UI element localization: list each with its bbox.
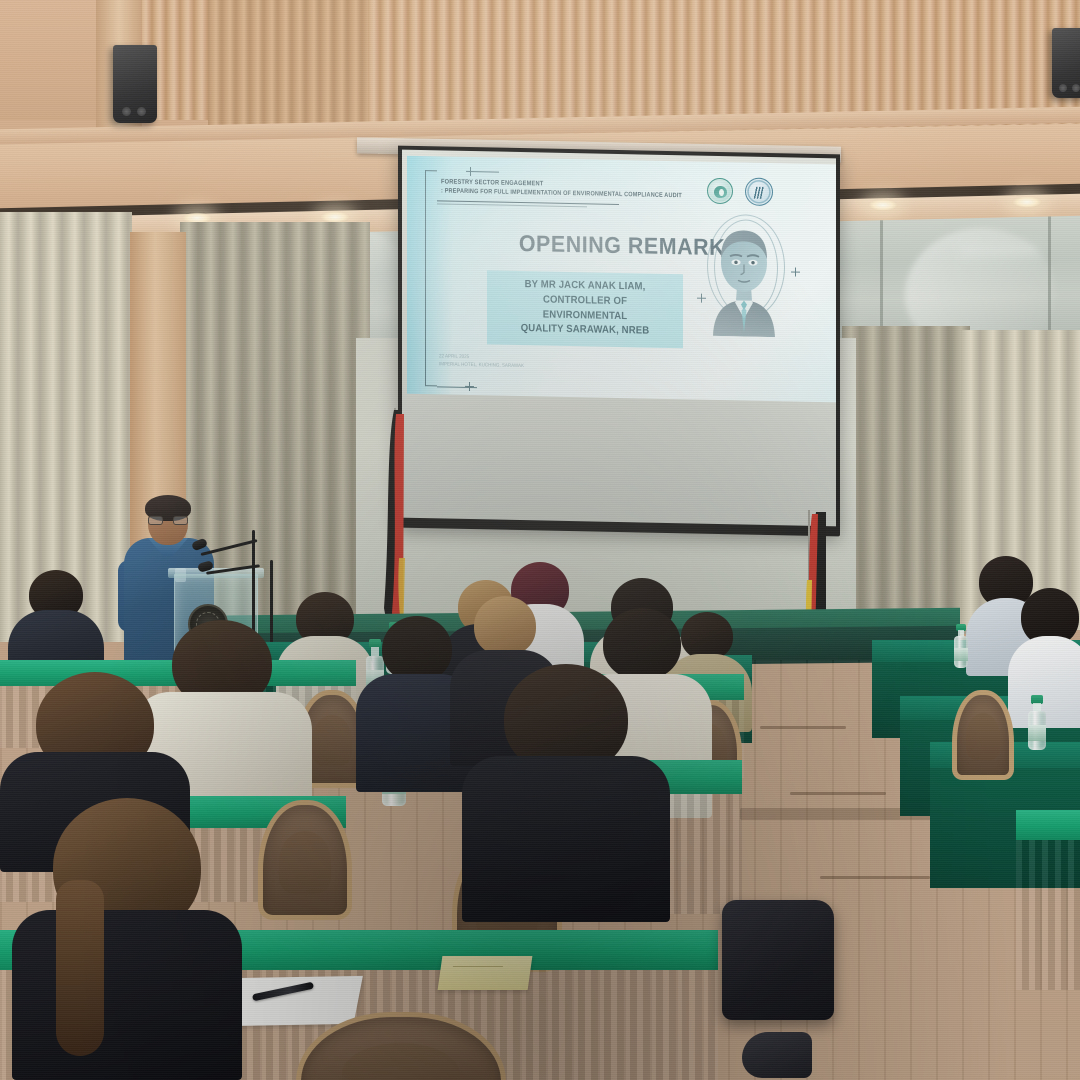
banquet-chair-closest [296,1012,506,1080]
bottle-label [1028,725,1046,741]
attendee-foreground-ponytail [12,798,242,1080]
curtain-right [842,326,970,634]
dark-shoe [742,1032,812,1078]
black-backpack [722,900,834,1020]
ponytail [56,880,104,1056]
banquet-chair-m4 [952,690,1014,780]
wall-speaker-left [113,45,157,123]
slide-plus-marker-top [466,167,475,176]
eyeglasses-icon [148,516,188,525]
lens-left [148,516,163,525]
wall-flutes-left-2 [208,0,368,138]
flag-left [378,408,408,648]
table-skirt [1016,840,1080,990]
table-row-right-4 [1016,810,1080,840]
slide-subtitle-box: BY MR JACK ANAK LIAM, CONTROLLER OF ENVI… [487,270,683,348]
slide-footer: 22 APRIL 2025 IMPERIAL HOTEL, KUCHING, S… [439,352,629,372]
screen-unlit-area [402,394,836,531]
speaker-driver [122,107,131,116]
portrait-svg [703,214,785,338]
nreb-logo [707,178,733,205]
tabletop [1016,810,1080,840]
screen-surface: FORESTRY SECTOR ENGAGEMENT : PREPARING F… [402,150,836,531]
head [474,596,536,656]
projected-slide: FORESTRY SECTOR ENGAGEMENT : PREPARING F… [407,156,836,410]
slide-tick-top [475,171,499,172]
yellow-notepad [438,956,533,990]
glass-mullion-4 [880,220,883,342]
projection-screen: FORESTRY SECTOR ENGAGEMENT : PREPARING F… [398,146,840,535]
glass-mullion-5 [1048,216,1051,338]
downlight-5 [868,199,898,211]
slide-subtitle-line-3: QUALITY SARAWAK, NREB [500,322,669,340]
speaker-driver [1072,84,1080,92]
head [382,616,452,682]
water-bottle-3 [954,624,968,668]
slide-subtitle-line-2: CONTROLLER OF ENVIRONMENTAL [500,292,669,325]
banquet-chair-f1 [258,800,352,920]
slide-header: FORESTRY SECTOR ENGAGEMENT : PREPARING F… [441,178,691,199]
lens-right [173,516,188,525]
flag-left-cloth [378,408,408,648]
downlight-6 [1012,196,1042,208]
sarawak-agency-logo [745,178,773,207]
glass-highlight-3 [960,245,1040,256]
slide-header-line-2: : PREPARING FOR FULL IMPLEMENTATION OF E… [441,188,656,199]
attendee-front-2 [462,664,670,922]
floor-seam-1 [760,726,846,729]
speaker-driver [1059,84,1067,92]
slide-plus-marker-right [791,267,800,276]
speaker-portrait-illustration [703,214,785,338]
water-bottle-6 [1028,696,1046,750]
notepad-rule [453,966,503,967]
chair-inner-panel [966,713,1001,760]
chair-inner-panel [312,715,352,766]
speaker-driver [137,107,146,116]
chair-inner-panel [279,831,332,893]
conference-hall-photo: FORESTRY SECTOR ENGAGEMENT : PREPARING F… [0,0,1080,1080]
floor-seam-3 [820,876,930,879]
wall-speaker-right [1052,28,1080,98]
bottle-label [954,648,968,661]
body [462,756,670,922]
floor-seam-2 [790,792,886,795]
slide-bracket-frame [425,170,437,386]
body [12,910,242,1080]
